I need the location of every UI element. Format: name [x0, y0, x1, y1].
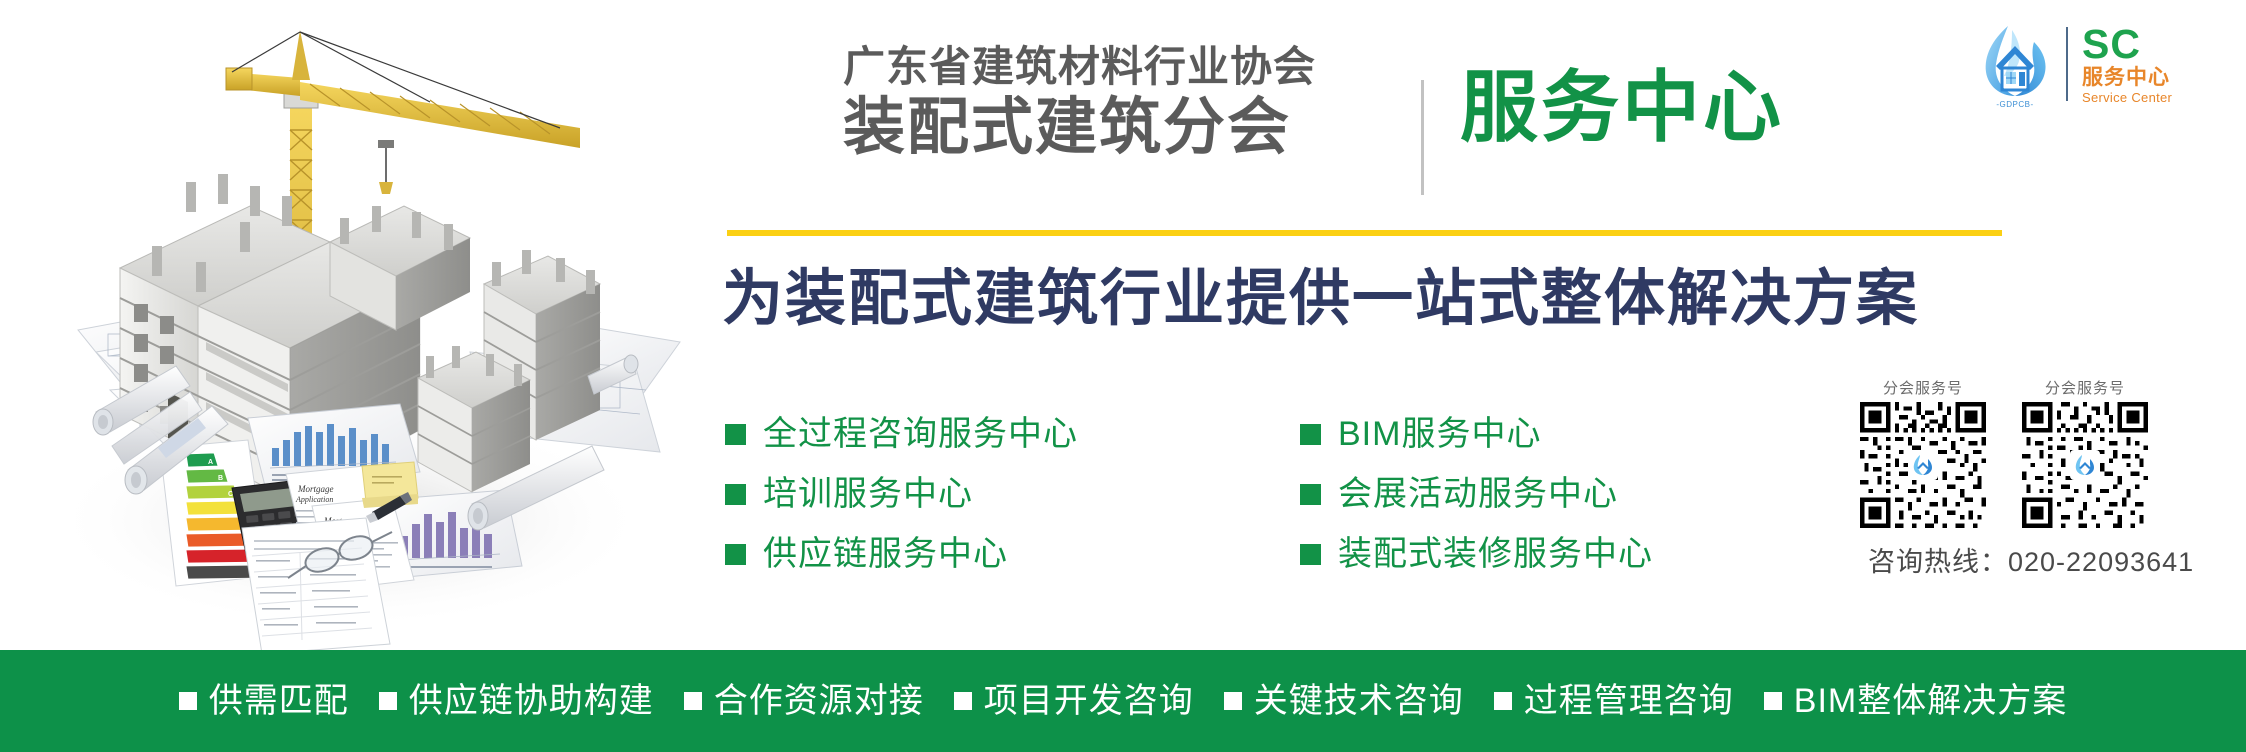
qr-code-group: 分会服务号: [1858, 380, 2228, 528]
svg-text:B: B: [218, 475, 223, 482]
list-item[interactable]: BIM服务中心: [1300, 415, 1653, 453]
list-item-label: BIM整体解决方案: [1794, 682, 2067, 720]
page-tagline: 为装配式建筑行业提供一站式整体解决方案: [722, 262, 1919, 334]
square-bullet-icon: [725, 484, 746, 505]
list-item[interactable]: 关键技术咨询: [1224, 682, 1464, 720]
square-bullet-icon: [954, 692, 972, 710]
square-bullet-icon: [1300, 424, 1321, 445]
brand-logo[interactable]: -GDPCB- SC 服务中心 Service Center: [1978, 16, 2228, 111]
list-item[interactable]: 全过程咨询服务中心: [725, 415, 1078, 453]
square-bullet-icon: [379, 692, 397, 710]
qr-caption: 分会服务号: [2045, 380, 2125, 397]
svg-text:Mortgage: Mortgage: [297, 484, 334, 494]
square-bullet-icon: [684, 692, 702, 710]
logo-text-block: SC 服务中心 Service Center: [2082, 23, 2172, 105]
yellow-divider-rule: [727, 230, 2002, 236]
service-list-right: BIM服务中心 会展活动服务中心 装配式装修服务中心: [1300, 415, 1653, 573]
qr-code-cell[interactable]: 分会服务号: [1858, 380, 1988, 528]
hotline-text: 咨询热线：020-22093641: [1868, 547, 2194, 578]
logo-cn-name: 服务中心: [2082, 66, 2172, 89]
svg-text:C: C: [228, 491, 233, 498]
square-bullet-icon: [1300, 484, 1321, 505]
association-title-line2: 装配式建筑分会: [843, 92, 1413, 164]
square-bullet-icon: [1764, 692, 1782, 710]
qr-code-icon[interactable]: [1860, 402, 1986, 528]
list-item-label: BIM服务中心: [1338, 415, 1541, 453]
square-bullet-icon: [1494, 692, 1512, 710]
square-bullet-icon: [1224, 692, 1242, 710]
square-bullet-icon: [725, 544, 746, 565]
qr-center-logo-icon: [2070, 450, 2100, 480]
list-item-label: 过程管理咨询: [1524, 682, 1734, 720]
qr-code-cell[interactable]: 分会服务号: [2020, 380, 2150, 528]
service-center-title: 服务中心: [1460, 60, 1784, 154]
svg-text:Application: Application: [295, 495, 333, 504]
list-item-label: 供需匹配: [209, 682, 349, 720]
association-title: 广东省建筑材料行业协会 装配式建筑分会: [843, 42, 1413, 164]
list-item[interactable]: 会展活动服务中心: [1300, 475, 1653, 513]
list-item[interactable]: 合作资源对接: [684, 682, 924, 720]
list-item[interactable]: 装配式装修服务中心: [1300, 535, 1653, 573]
house-flame-icon: -GDPCB-: [1978, 20, 2052, 108]
list-item-label: 供应链协助构建: [409, 682, 654, 720]
svg-text:A: A: [208, 459, 213, 466]
list-item[interactable]: 供应链服务中心: [725, 535, 1078, 573]
qr-caption: 分会服务号: [1883, 380, 1963, 397]
list-item-label: 全过程咨询服务中心: [763, 415, 1078, 453]
list-item-label: 培训服务中心: [763, 475, 973, 513]
list-item-label: 供应链服务中心: [763, 535, 1008, 573]
qr-code-icon[interactable]: [2022, 402, 2148, 528]
qr-center-logo-icon: [1908, 450, 1938, 480]
square-bullet-icon: [725, 424, 746, 445]
list-item[interactable]: BIM整体解决方案: [1764, 682, 2067, 720]
list-item[interactable]: 供需匹配: [179, 682, 349, 720]
construction-site-illustration: ABC DEF GH: [0, 0, 700, 650]
logo-separator: [2066, 27, 2068, 101]
list-item-label: 关键技术咨询: [1254, 682, 1464, 720]
service-list-left: 全过程咨询服务中心 培训服务中心 供应链服务中心: [725, 415, 1078, 573]
square-bullet-icon: [1300, 544, 1321, 565]
bottom-capability-bar: 供需匹配 供应链协助构建 合作资源对接 项目开发咨询 关键技术咨询 过程管理咨询…: [0, 650, 2246, 752]
list-item[interactable]: 供应链协助构建: [379, 682, 654, 720]
banner-root: ABC DEF GH: [0, 0, 2246, 752]
list-item-label: 装配式装修服务中心: [1338, 535, 1653, 573]
association-title-line1: 广东省建筑材料行业协会: [843, 42, 1413, 92]
logo-abbrev: SC: [2082, 23, 2172, 65]
title-divider: [1421, 80, 1424, 195]
list-item-label: 合作资源对接: [714, 682, 924, 720]
list-item-label: 会展活动服务中心: [1338, 475, 1618, 513]
list-item[interactable]: 项目开发咨询: [954, 682, 1194, 720]
list-item-label: 项目开发咨询: [984, 682, 1194, 720]
square-bullet-icon: [179, 692, 197, 710]
list-item[interactable]: 过程管理咨询: [1494, 682, 1734, 720]
logo-mark-caption: -GDPCB-: [1978, 100, 2052, 109]
list-item[interactable]: 培训服务中心: [725, 475, 1078, 513]
logo-en-name: Service Center: [2082, 90, 2172, 105]
